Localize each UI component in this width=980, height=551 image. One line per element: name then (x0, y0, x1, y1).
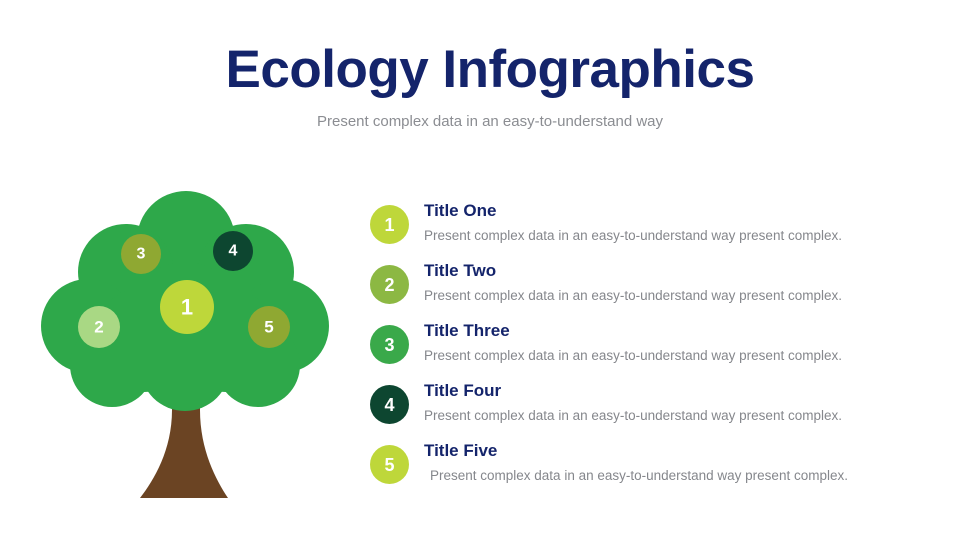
list-item-description: Present complex data in an easy-to-under… (424, 227, 940, 245)
infographic-slide: Ecology Infographics Present complex dat… (0, 0, 980, 551)
feature-list: 1 Title One Present complex data in an e… (370, 198, 940, 494)
list-item-title: Title Five (424, 440, 940, 462)
list-item-description: Present complex data in an easy-to-under… (424, 347, 940, 365)
list-badge-4-number: 4 (384, 396, 394, 414)
list-badge-1-number: 1 (384, 216, 394, 234)
list-item-description: Present complex data in an easy-to-under… (430, 467, 940, 485)
list-badge-3: 3 (370, 325, 409, 364)
tree-badge-3-number: 3 (137, 246, 146, 263)
tree-illustration: 1 2 3 4 5 (40, 180, 330, 515)
list-badge-1: 1 (370, 205, 409, 244)
list-badge-3-number: 3 (384, 336, 394, 354)
tree-badge-4[interactable]: 4 (213, 231, 253, 271)
list-item-description: Present complex data in an easy-to-under… (424, 287, 940, 305)
list-item-body: Title Three Present complex data in an e… (424, 318, 940, 365)
list-badge-5: 5 (370, 445, 409, 484)
tree-badge-3[interactable]: 3 (121, 234, 161, 274)
tree-badge-2[interactable]: 2 (78, 306, 120, 348)
tree-badge-1[interactable]: 1 (160, 280, 214, 334)
list-item[interactable]: 4 Title Four Present complex data in an … (370, 378, 940, 434)
list-badge-4: 4 (370, 385, 409, 424)
list-item-title: Title Four (424, 380, 940, 402)
list-item-body: Title One Present complex data in an eas… (424, 198, 940, 245)
page-title: Ecology Infographics (0, 40, 980, 100)
tree-svg: 1 2 3 4 5 (40, 180, 330, 515)
list-item[interactable]: 2 Title Two Present complex data in an e… (370, 258, 940, 314)
tree-badge-2-number: 2 (94, 318, 103, 337)
list-item-title: Title Three (424, 320, 940, 342)
tree-badge-1-number: 1 (181, 295, 193, 320)
tree-badge-5[interactable]: 5 (248, 306, 290, 348)
list-item[interactable]: 1 Title One Present complex data in an e… (370, 198, 940, 254)
tree-badge-5-number: 5 (264, 318, 273, 337)
slide-header: Ecology Infographics Present complex dat… (0, 40, 980, 132)
tree-badge-4-number: 4 (229, 243, 238, 260)
list-badge-2: 2 (370, 265, 409, 304)
list-item-title: Title One (424, 200, 940, 222)
list-item-title: Title Two (424, 260, 940, 282)
list-item-body: Title Two Present complex data in an eas… (424, 258, 940, 305)
list-item-body: Title Five Present complex data in an ea… (424, 438, 940, 485)
list-badge-5-number: 5 (384, 456, 394, 474)
page-subtitle: Present complex data in an easy-to-under… (0, 112, 980, 132)
list-item-description: Present complex data in an easy-to-under… (424, 407, 940, 425)
list-item[interactable]: 5 Title Five Present complex data in an … (370, 438, 940, 494)
list-badge-2-number: 2 (384, 276, 394, 294)
list-item-body: Title Four Present complex data in an ea… (424, 378, 940, 425)
list-item[interactable]: 3 Title Three Present complex data in an… (370, 318, 940, 374)
